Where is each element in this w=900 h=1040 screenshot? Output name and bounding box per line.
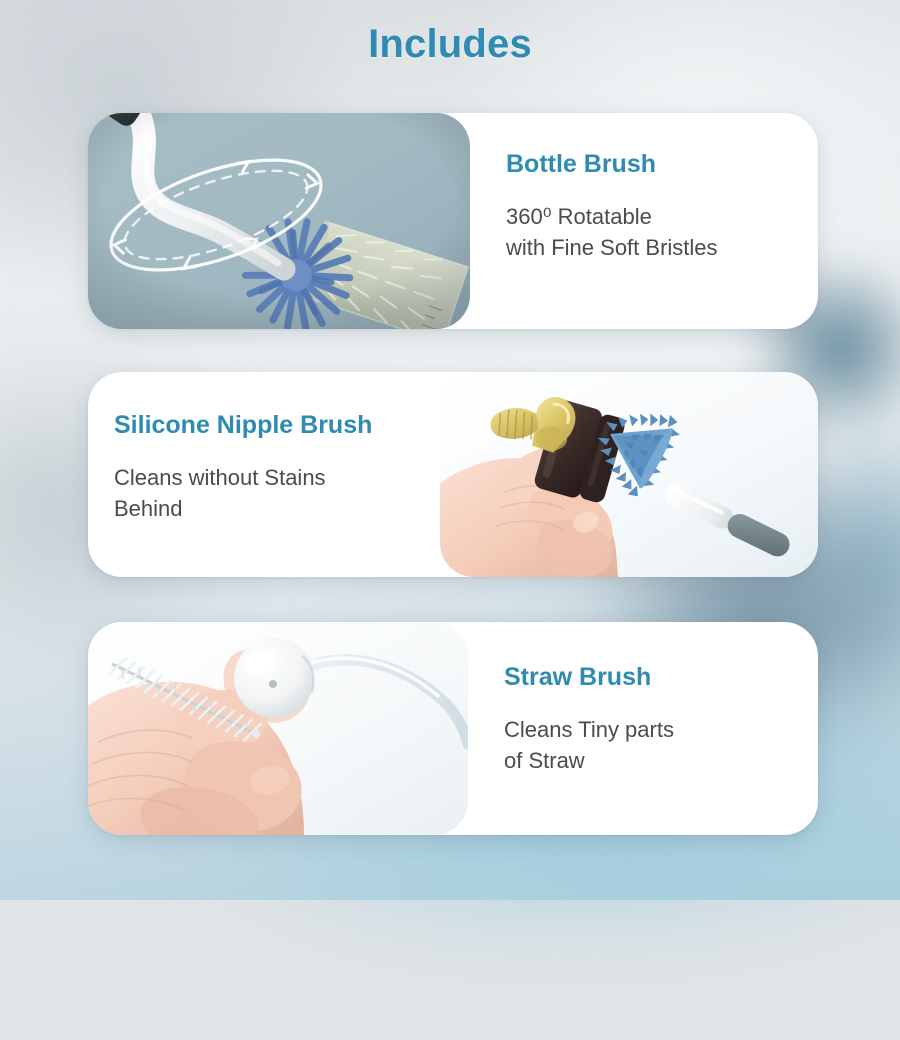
silicone-nipple-brush-image xyxy=(440,372,818,577)
straw-brush-copy: Straw Brush Cleans Tiny parts of Straw xyxy=(468,622,818,835)
feature-card-bottle-brush[interactable]: Bottle Brush 360⁰ Rotatable with Fine So… xyxy=(88,113,818,329)
feature-description-line-1: 360⁰ Rotatable xyxy=(506,201,788,232)
feature-description-line-2: with Fine Soft Bristles xyxy=(506,232,788,263)
feature-description: 360⁰ Rotatable with Fine Soft Bristles xyxy=(506,201,788,263)
feature-title: Bottle Brush xyxy=(506,151,788,179)
straw-brush-illustration xyxy=(88,622,468,835)
straw-brush-image xyxy=(88,622,468,835)
feature-card-list: Bottle Brush 360⁰ Rotatable with Fine So… xyxy=(0,0,900,900)
feature-description: Cleans without Stains Behind xyxy=(114,462,418,524)
feature-description-line-1: Cleans Tiny parts xyxy=(504,714,788,745)
feature-card-silicone-nipple-brush[interactable]: Silicone Nipple Brush Cleans without Sta… xyxy=(88,372,818,577)
feature-description-line-2: of Straw xyxy=(504,745,788,776)
feature-title: Silicone Nipple Brush xyxy=(114,412,418,440)
page-title: Includes xyxy=(0,22,900,67)
feature-description: Cleans Tiny parts of Straw xyxy=(504,714,788,776)
feature-card-straw-brush[interactable]: Straw Brush Cleans Tiny parts of Straw xyxy=(88,622,818,835)
silicone-nipple-brush-copy: Silicone Nipple Brush Cleans without Sta… xyxy=(88,372,440,577)
feature-title: Straw Brush xyxy=(504,664,788,692)
feature-description-line-2: Behind xyxy=(114,493,418,524)
bottle-brush-copy: Bottle Brush 360⁰ Rotatable with Fine So… xyxy=(470,113,818,329)
feature-description-line-1: Cleans without Stains xyxy=(114,462,418,493)
bottle-brush-illustration xyxy=(88,113,470,329)
bottle-brush-image xyxy=(88,113,470,329)
silicone-nipple-brush-illustration xyxy=(440,372,818,577)
